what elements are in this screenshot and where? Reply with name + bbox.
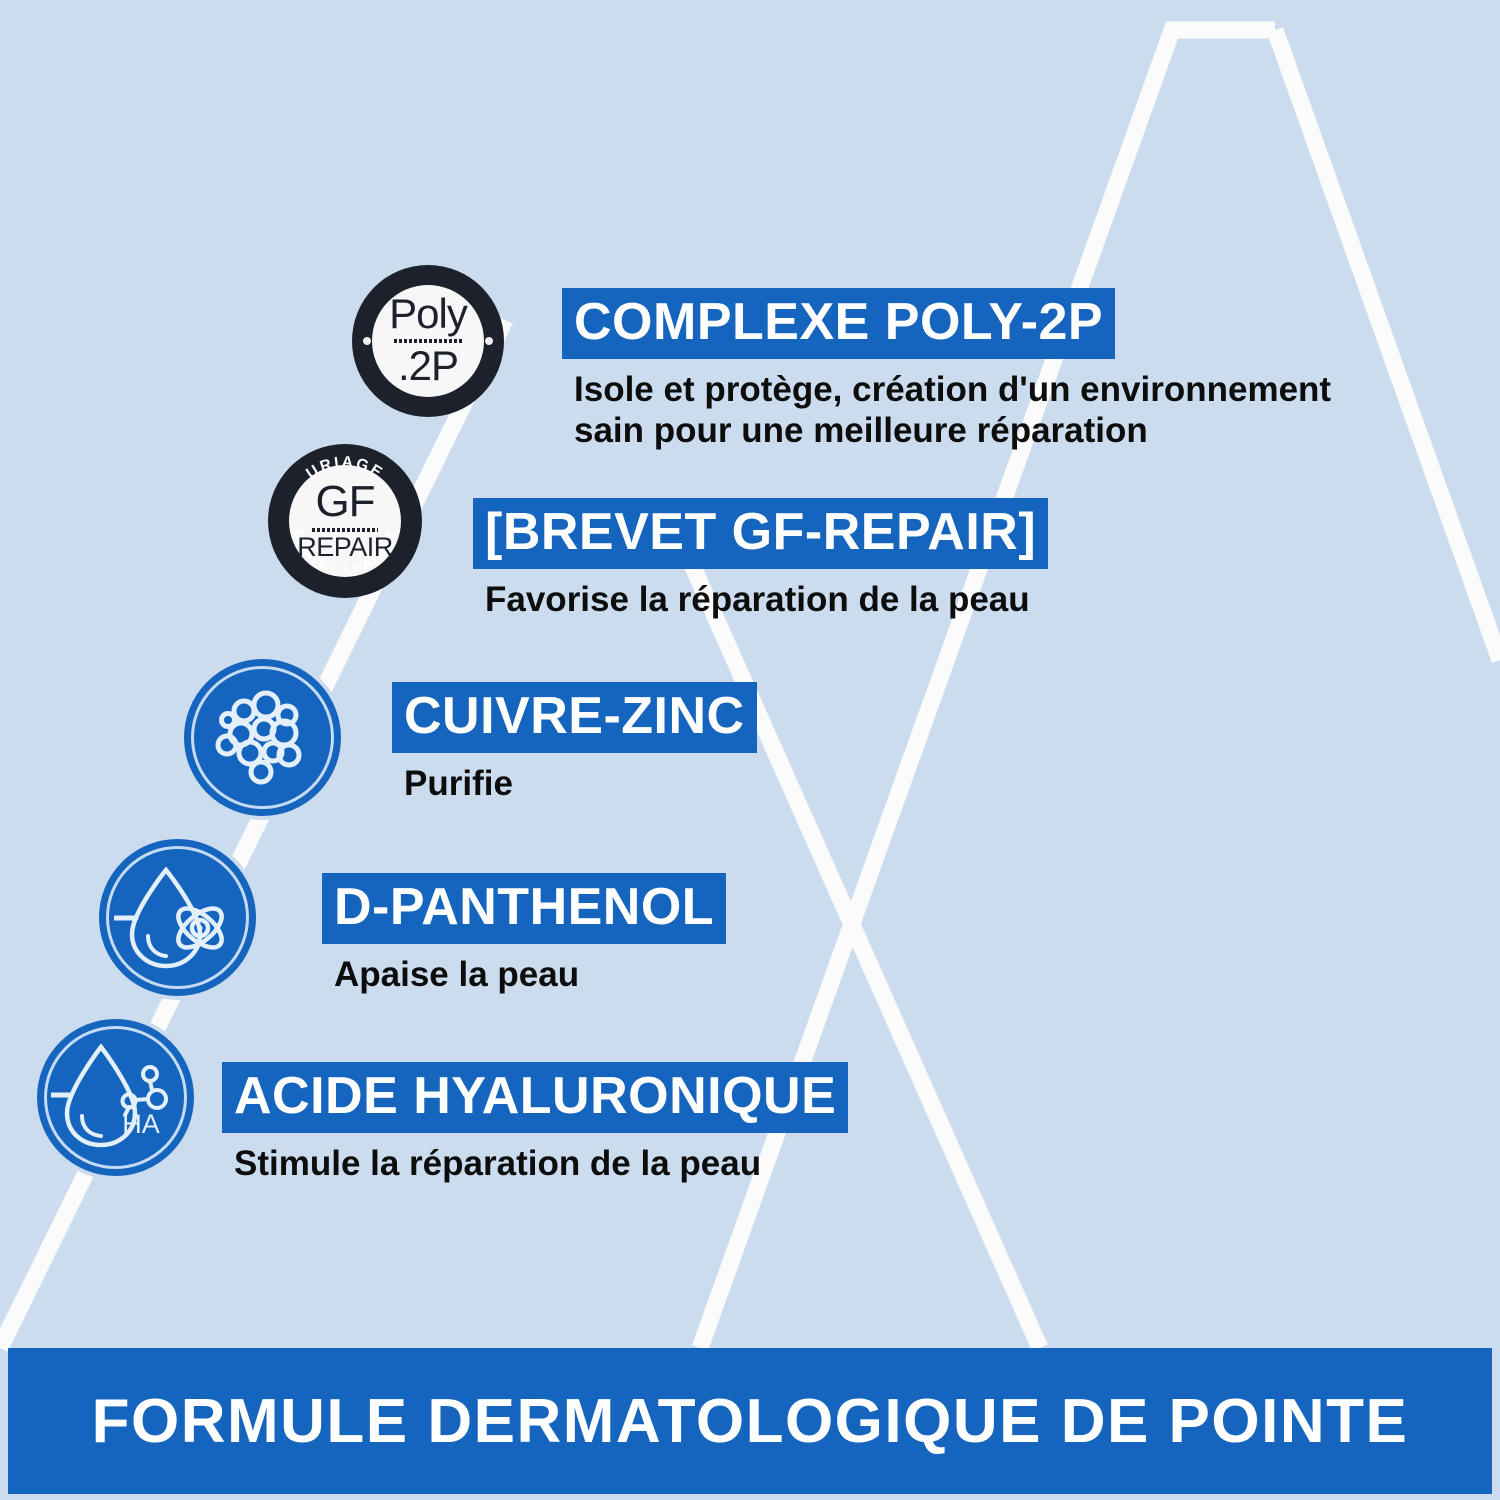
item-brevet-gf-repair: [BREVET GF-REPAIR] Favorise la réparatio… (473, 498, 1048, 620)
badge-rivet-right (485, 337, 493, 345)
gf-repair-line2: REPAIR (268, 534, 422, 561)
item-description: Favorise la réparation de la peau (473, 579, 1048, 620)
badge-rivet-left (363, 337, 371, 345)
item-description: Purifie (392, 763, 757, 804)
item-description: Apaise la peau (322, 954, 726, 995)
poly-2p-badge: Poly .2P (352, 265, 504, 417)
bottom-banner-text: FORMULE DERMATOLOGIQUE DE POINTE (92, 1386, 1409, 1457)
droplet-atom-icon (95, 835, 260, 1000)
item-description: Stimule la réparation de la peau (222, 1143, 848, 1184)
item-cuivre-zinc: CUIVRE-ZINC Purifie (392, 682, 757, 804)
item-title: D-PANTHENOL (322, 873, 726, 944)
item-title: COMPLEXE POLY-2P (562, 288, 1115, 359)
item-title: [BREVET GF-REPAIR] (473, 498, 1048, 569)
item-complexe-poly-2p: COMPLEXE POLY-2P Isole et protège, créat… (562, 288, 1331, 452)
poly-2p-line2: .2P (352, 345, 504, 387)
item-title: ACIDE HYALURONIQUE (222, 1062, 848, 1133)
droplet-ha-icon: HA (33, 1015, 198, 1180)
gf-repair-line1: GF (268, 480, 422, 524)
molecule-cluster-icon (180, 655, 345, 820)
item-d-panthenol: D-PANTHENOL Apaise la peau (322, 873, 726, 995)
item-acide-hyaluronique: ACIDE HYALURONIQUE Stimule la réparation… (222, 1062, 848, 1184)
item-description: Isole et protège, création d'un environn… (562, 369, 1331, 452)
svg-text:HA: HA (122, 1109, 160, 1139)
gf-repair-badge: URIAGE BREVET • PATENT GF REPAIR (268, 444, 422, 598)
bottom-banner: FORMULE DERMATOLOGIQUE DE POINTE (8, 1348, 1492, 1494)
infographic-canvas: Poly .2P URIAGE BREVET • PATENT GF REPAI… (0, 0, 1500, 1500)
poly-2p-line1: Poly (352, 293, 504, 335)
item-title: CUIVRE-ZINC (392, 682, 757, 753)
